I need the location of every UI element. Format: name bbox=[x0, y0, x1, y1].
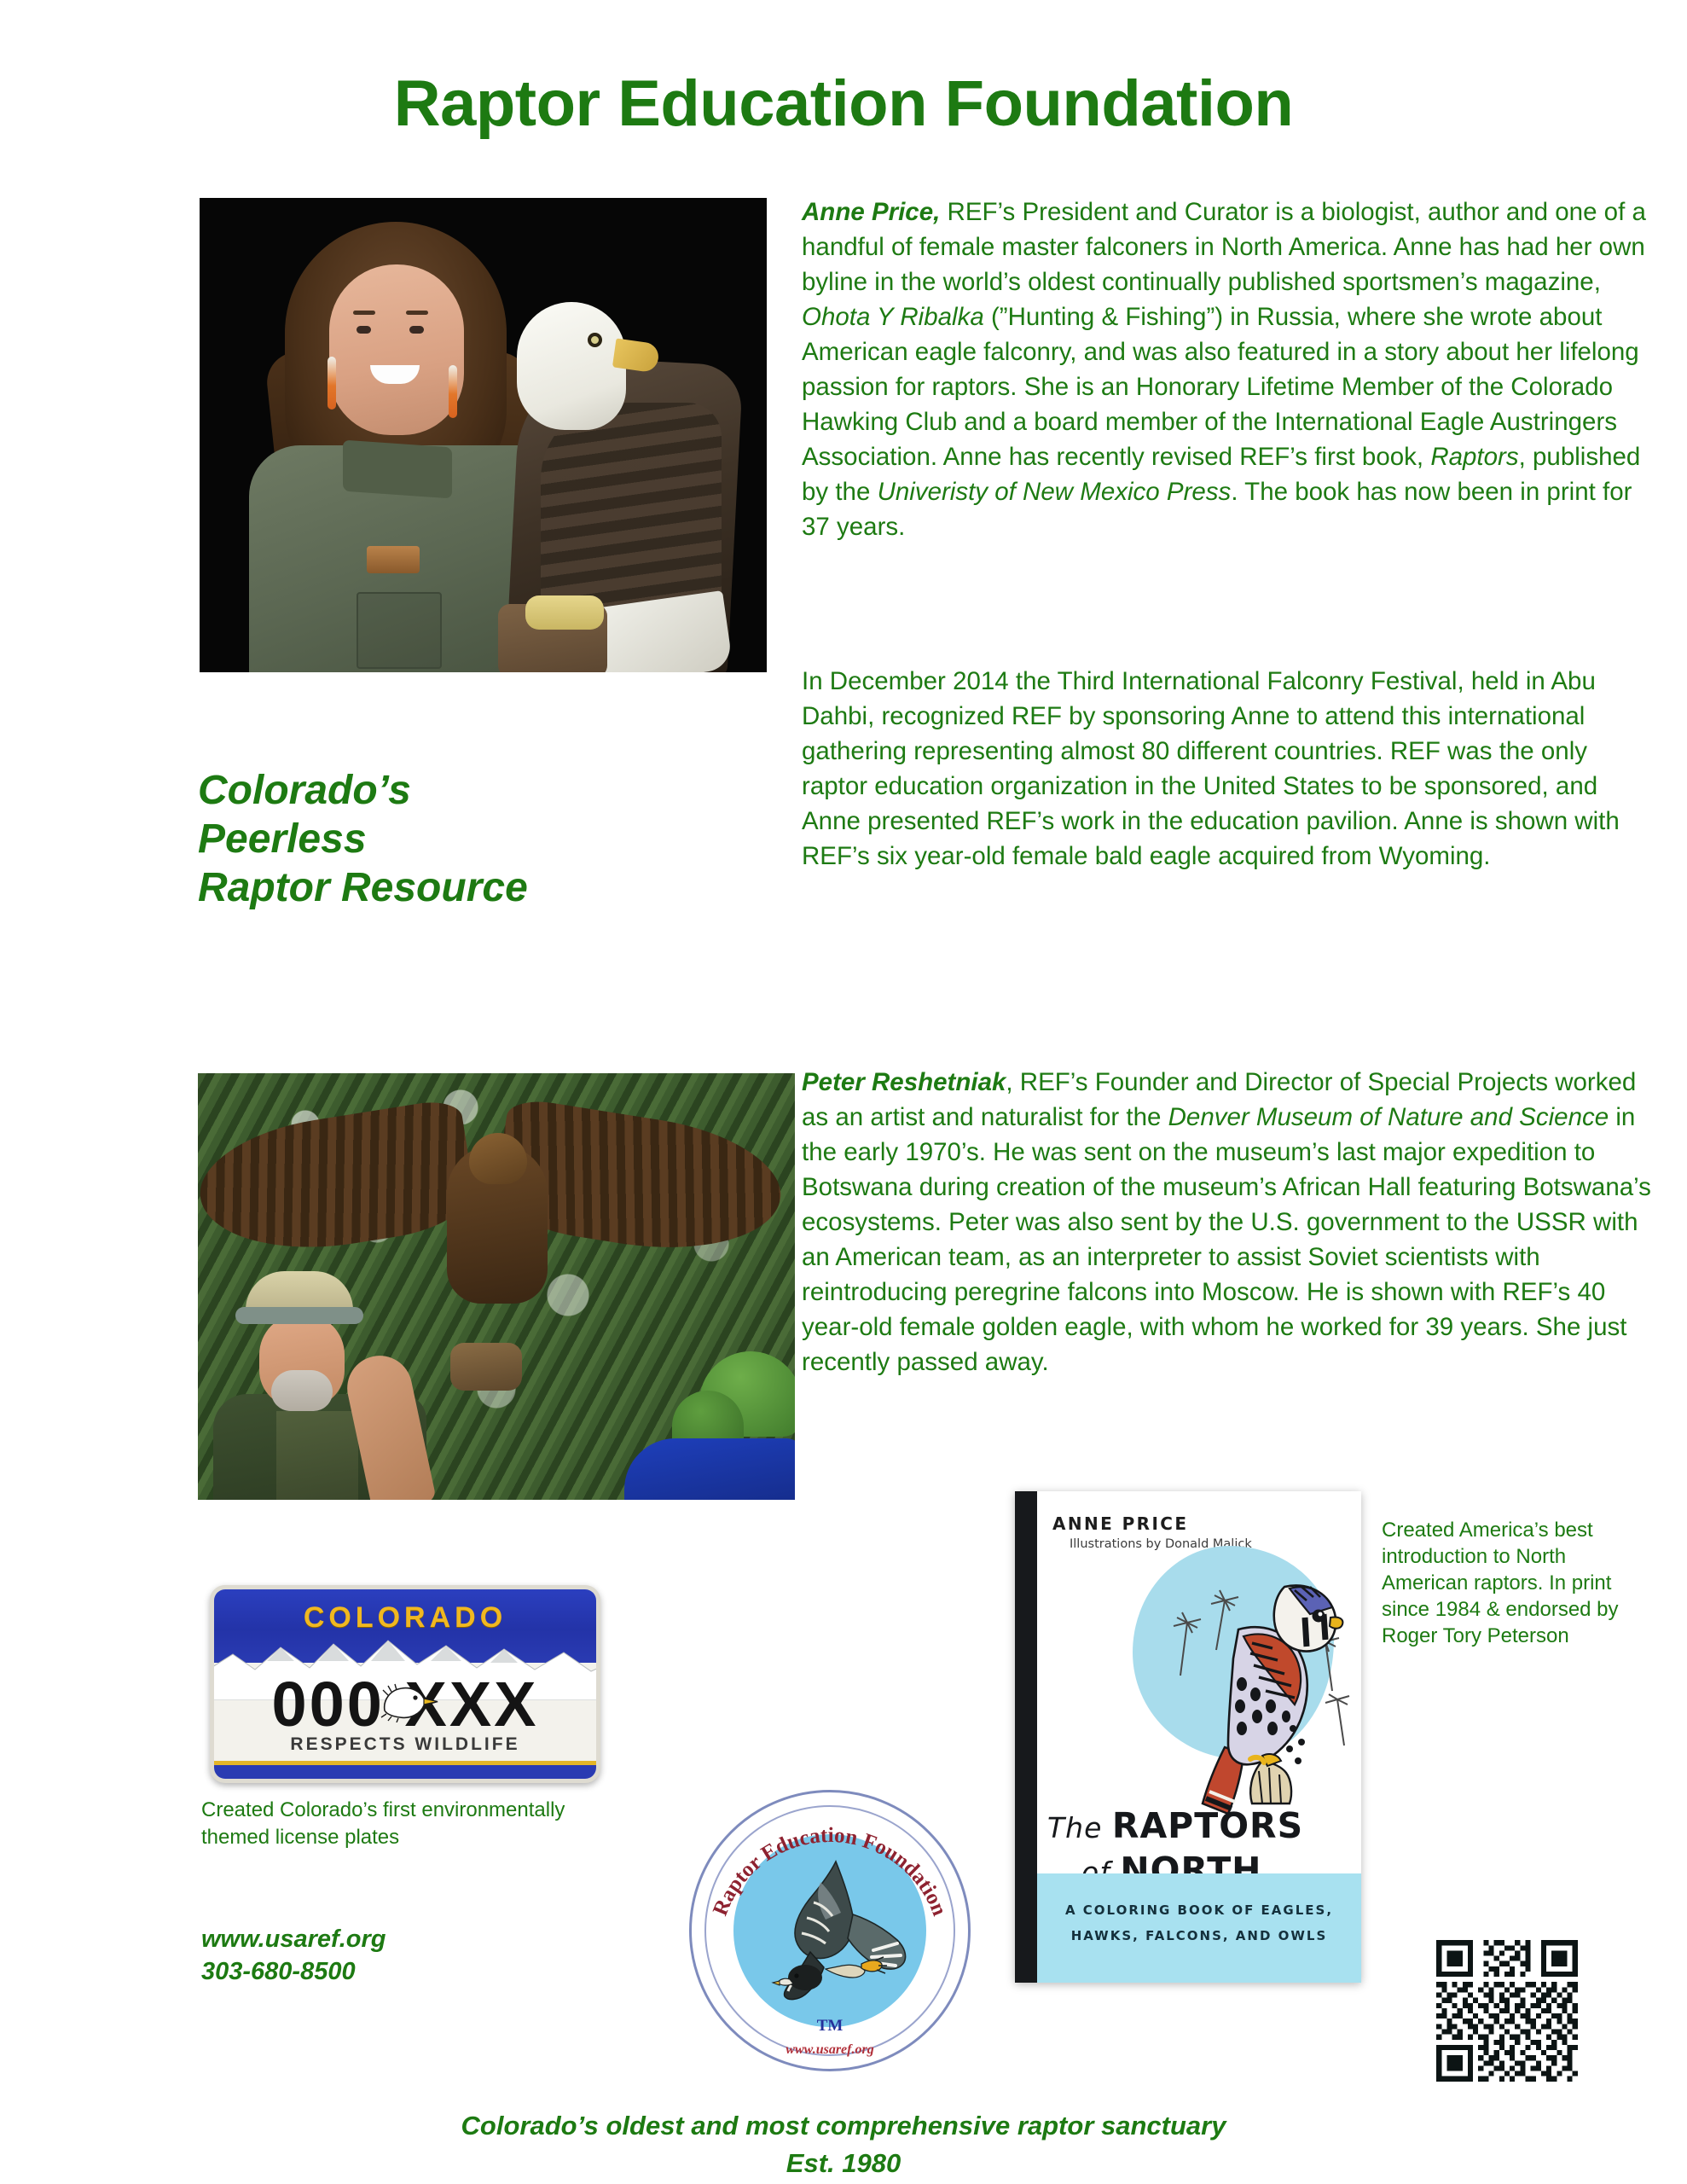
eyebrow-left bbox=[353, 311, 375, 315]
logo-website-url: www.usaref.org bbox=[689, 2042, 971, 2058]
golden-eagle-head bbox=[469, 1133, 527, 1184]
book-title-the: The bbox=[1047, 1811, 1112, 1844]
anne-italic-publisher: Univeristy of New Mexico Press bbox=[878, 478, 1232, 506]
earring-left bbox=[328, 357, 336, 409]
contact-block: www.usaref.org 303-680-8500 bbox=[201, 1923, 611, 1988]
name-badge bbox=[367, 546, 420, 573]
plate-state-label: COLORADO bbox=[214, 1601, 596, 1635]
paragraph-peter-reshetniak: Peter Reshetniak, REF’s Founder and Dire… bbox=[802, 1065, 1655, 1380]
peter-lead-in: Peter Reshetniak bbox=[802, 1068, 1006, 1096]
bald-eagle-head bbox=[517, 302, 626, 430]
peregrine-falcon-illustration bbox=[754, 1850, 913, 2012]
book-caption: Created America’s best introduction to N… bbox=[1382, 1517, 1629, 1649]
eye-right bbox=[409, 326, 424, 334]
face bbox=[329, 264, 464, 435]
eagle-head-icon bbox=[378, 1682, 439, 1722]
qr-code-graphic bbox=[1431, 1935, 1583, 2087]
paragraph-anne-price: Anne Price, REF’s President and Curator … bbox=[802, 195, 1655, 544]
plate-bottom-bar bbox=[214, 1765, 596, 1779]
book-author-name: ANNE PRICE bbox=[1052, 1513, 1188, 1534]
footer: Colorado’s oldest and most comprehensive… bbox=[0, 2107, 1687, 2182]
bald-eagle-eye bbox=[588, 333, 602, 347]
book-subtitle-line-2: HAWKS, FALCONS, AND OWLS bbox=[1037, 1923, 1361, 1949]
peter-text-2: in the early 1970’s. He was sent on the … bbox=[802, 1103, 1651, 1376]
tagline-line-2: Peerless bbox=[198, 815, 675, 863]
book-spine bbox=[1015, 1491, 1037, 1983]
license-plate-caption: Created Colorado’s first environmentally… bbox=[201, 1797, 628, 1851]
peter-italic-museum: Denver Museum of Nature and Science bbox=[1168, 1103, 1609, 1131]
beard bbox=[271, 1370, 333, 1411]
trademark-mark: TM bbox=[689, 2017, 971, 2036]
book-subtitle: A COLORING BOOK OF EAGLES, HAWKS, FALCON… bbox=[1037, 1897, 1361, 1949]
page-title: Raptor Education Foundation bbox=[0, 67, 1687, 141]
photo-peter-reshetniak-with-golden-eagle bbox=[198, 1073, 795, 1500]
colorado-license-plate: COLORADO 000 XXX RESPECTS WILDLIFE bbox=[210, 1585, 600, 1783]
anne-italic-book: Raptors bbox=[1430, 443, 1518, 471]
eyebrow-right bbox=[406, 311, 428, 315]
collar bbox=[343, 440, 452, 499]
anne-lead-in: Anne Price, bbox=[802, 198, 940, 226]
book-cover-raptors-of-north-america: ANNE PRICE Illustrations by Donald Malic… bbox=[1015, 1491, 1361, 1983]
license-plate-image: COLORADO 000 XXX RESPECTS WILDLIFE bbox=[201, 1577, 600, 1781]
tagline: Colorado’s Peerless Raptor Resource bbox=[198, 766, 675, 912]
website-link[interactable]: www.usaref.org bbox=[201, 1923, 611, 1955]
paragraph-falconry-festival: In December 2014 the Third International… bbox=[802, 664, 1638, 874]
book-title-line-1: The RAPTORS bbox=[1047, 1805, 1354, 1846]
plate-slogan: RESPECTS WILDLIFE bbox=[214, 1734, 596, 1755]
american-kestrel-illustration bbox=[1143, 1548, 1353, 1829]
shirt bbox=[276, 1411, 358, 1500]
photo-anne-price-with-bald-eagle bbox=[200, 198, 767, 672]
eye-left bbox=[357, 326, 371, 334]
document-page: Raptor Education Foundation Anne Price, … bbox=[0, 0, 1687, 2184]
tagline-line-3: Raptor Resource bbox=[198, 863, 675, 912]
footer-line-1: Colorado’s oldest and most comprehensive… bbox=[0, 2107, 1687, 2145]
cap-brim bbox=[235, 1307, 363, 1324]
earring-right bbox=[449, 365, 457, 418]
anne-italic-magazine: Ohota Y Ribalka bbox=[802, 303, 984, 331]
book-bottom-band: A COLORING BOOK OF EAGLES, HAWKS, FALCON… bbox=[1037, 1873, 1361, 1983]
phone-number[interactable]: 303-680-8500 bbox=[201, 1955, 611, 1988]
falconry-glove bbox=[450, 1343, 522, 1391]
book-title-raptors: RAPTORS bbox=[1112, 1805, 1303, 1846]
qr-code[interactable] bbox=[1431, 1935, 1583, 2087]
ref-logo: Raptor Education Foundation TM www.usare… bbox=[689, 1790, 971, 2071]
book-subtitle-line-1: A COLORING BOOK OF EAGLES, bbox=[1037, 1897, 1361, 1923]
tagline-line-1: Colorado’s bbox=[198, 766, 675, 815]
shirt-pocket bbox=[357, 592, 442, 669]
spectator-blue-jacket bbox=[624, 1438, 795, 1500]
bald-eagle-talons bbox=[525, 595, 604, 630]
footer-line-2: Est. 1980 bbox=[0, 2145, 1687, 2182]
